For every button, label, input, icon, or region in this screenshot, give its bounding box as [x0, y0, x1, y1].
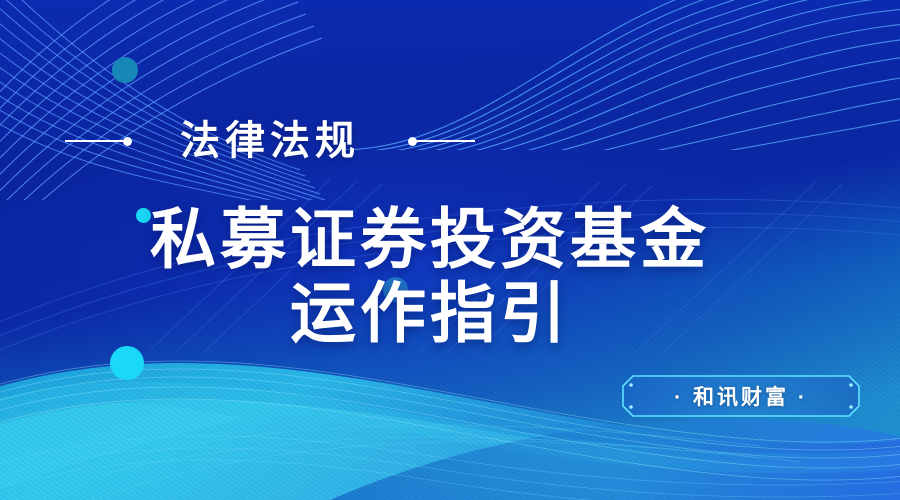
brand-badge-label: · 和讯财富 ·: [622, 375, 860, 417]
rule-dot-icon: [408, 137, 417, 146]
decor-circle-teal: [112, 57, 138, 83]
decor-circle-cyan-large: [110, 346, 144, 380]
rule-dot-icon: [123, 137, 132, 146]
right-rule-decoration: [408, 137, 475, 146]
brand-badge[interactable]: · 和讯财富 ·: [622, 375, 860, 417]
kicker-label: 法律法规: [180, 121, 360, 161]
kicker-row: 法律法规: [0, 110, 540, 172]
rule-line-icon: [417, 140, 475, 142]
title-line-1: 私募证券投资基金: [0, 205, 860, 275]
rule-line-icon: [65, 140, 123, 142]
poster-title: 私募证券投资基金 运作指引: [0, 205, 860, 349]
left-rule-decoration: [65, 137, 132, 146]
title-line-2: 运作指引: [0, 279, 860, 349]
poster-banner: 法律法规 私募证券投资基金 运作指引 · 和讯财富 ·: [0, 0, 900, 500]
